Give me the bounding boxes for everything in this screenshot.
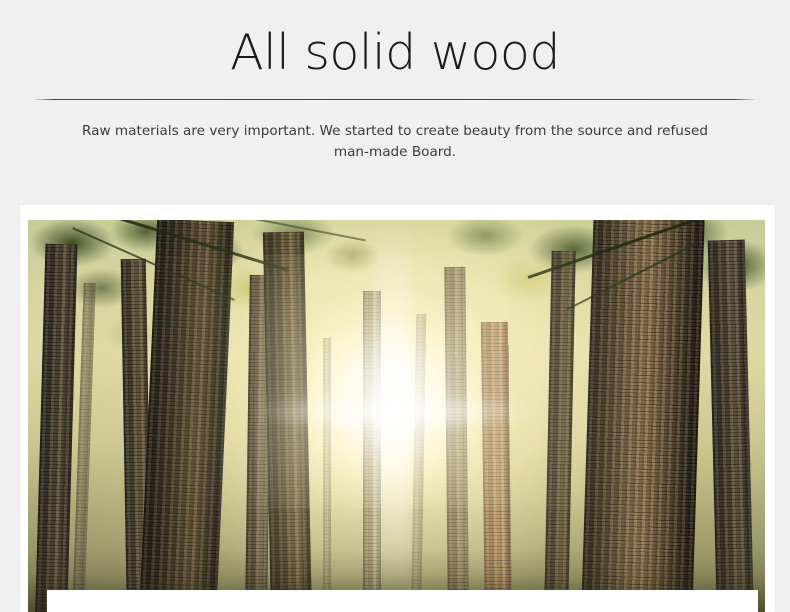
divider-container	[0, 99, 790, 100]
photo-card	[20, 205, 775, 612]
info-panel	[47, 590, 758, 612]
info-panel-text	[47, 590, 758, 600]
page-title: All solid wood	[0, 26, 790, 81]
header-divider	[35, 99, 755, 100]
page-subtitle: Raw materials are very important. We sta…	[65, 121, 725, 163]
page-header: All solid wood Raw materials are very im…	[0, 0, 790, 163]
sun-ray-diagonal	[249, 392, 544, 431]
forest-scene	[28, 220, 765, 612]
forest-image	[28, 220, 765, 612]
